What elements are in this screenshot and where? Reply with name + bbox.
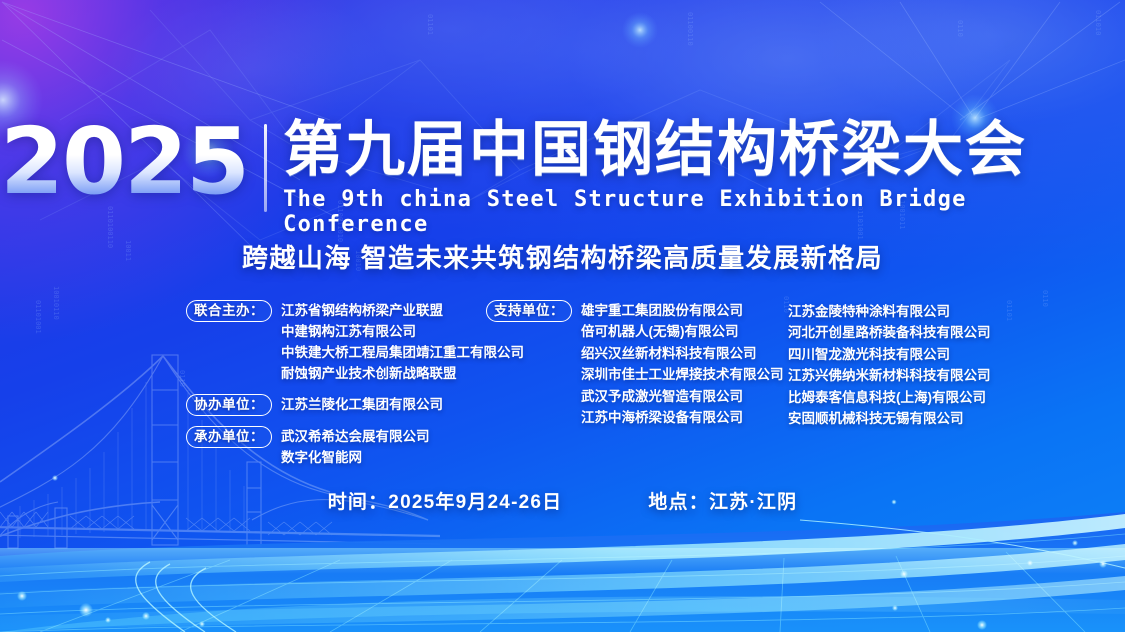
banner-footer: 时间：2025年9月24-26日 地点：江苏·江阴 [0,487,1125,514]
organizers-section: 联合主办： 江苏省钢结构桥梁产业联盟 中建钢构江苏有限公司 中铁建大桥工程局集团… [186,300,1031,478]
organization-name: 江苏中海桥梁设备有限公司 [581,407,784,428]
organization-name: 四川智龙激光科技有限公司 [782,344,1031,365]
title-divider [264,124,267,212]
supporters-label: 支持单位： [486,300,572,322]
event-date: 时间：2025年9月24-26日 [328,487,563,514]
conference-title-english: The 9th china Steel Structure Exhibition… [283,187,1125,237]
title-row: 2025 第九届中国钢结构桥梁大会 The 9th china Steel St… [0,118,1125,237]
co-host-group: 联合主办： 江苏省钢结构桥梁产业联盟 中建钢构江苏有限公司 中铁建大桥工程局集团… [186,300,486,384]
organization-name: 绍兴汉丝新材料科技有限公司 [581,343,784,364]
organizers-right-column: 江苏金陵特种涂料有限公司 河北开创星路桥装备科技有限公司 四川智龙激光科技有限公… [782,300,1031,478]
conference-banner: 01101001 10010110 0110100110 10011 0110 … [0,0,1125,632]
organizers-middle-column: 支持单位： 雄宇重工集团股份有限公司 倍可机器人(无锡)有限公司 绍兴汉丝新材料… [486,300,782,478]
year-2025: 2025 [0,118,264,206]
organization-name: 比姆泰客信息科技(上海)有限公司 [782,387,1031,408]
undertaker-group: 承办单位： 武汉希希达会展有限公司 数字化智能网 [186,426,486,468]
co-host-label: 联合主办： [186,300,272,322]
supporters-names-first: 雄宇重工集团股份有限公司 倍可机器人(无锡)有限公司 绍兴汉丝新材料科技有限公司… [581,300,784,428]
supporters-group: 支持单位： 雄宇重工集团股份有限公司 倍可机器人(无锡)有限公司 绍兴汉丝新材料… [486,300,782,428]
organization-name: 雄宇重工集团股份有限公司 [581,300,784,321]
organizers-left-column: 联合主办： 江苏省钢结构桥梁产业联盟 中建钢构江苏有限公司 中铁建大桥工程局集团… [186,300,486,478]
co-organizer-names: 江苏兰陵化工集团有限公司 [281,394,443,415]
event-location: 地点：江苏·江阴 [648,487,797,514]
co-organizer-label: 协办单位： [186,394,272,416]
co-organizer-group: 协办单位： 江苏兰陵化工集团有限公司 [186,394,486,416]
conference-tagline: 跨越山海 智造未来共筑钢结构桥梁高质量发展新格局 [0,238,1125,275]
undertaker-label: 承办单位： [186,426,272,448]
conference-title-chinese: 第九届中国钢结构桥梁大会 [283,118,1125,183]
organization-name: 深圳市佳士工业焊接技术有限公司 [581,364,784,385]
organization-name: 武汉予成激光智造有限公司 [581,386,784,407]
title-block: 第九届中国钢结构桥梁大会 The 9th china Steel Structu… [283,118,1125,237]
organization-name: 江苏兴佛纳米新材料科技有限公司 [782,365,1031,386]
organization-name: 江苏兰陵化工集团有限公司 [281,394,443,415]
organization-name: 江苏金陵特种涂料有限公司 [782,301,1031,322]
organization-name: 数字化智能网 [281,447,430,468]
undertaker-names: 武汉希希达会展有限公司 数字化智能网 [281,426,430,468]
supporters-names-second: 江苏金陵特种涂料有限公司 河北开创星路桥装备科技有限公司 四川智龙激光科技有限公… [782,301,1031,429]
organization-name: 安固顺机械科技无锡有限公司 [782,408,1031,429]
organization-name: 河北开创星路桥装备科技有限公司 [782,322,1031,343]
organization-name: 武汉希希达会展有限公司 [281,426,430,447]
organization-name: 倍可机器人(无锡)有限公司 [581,321,784,342]
